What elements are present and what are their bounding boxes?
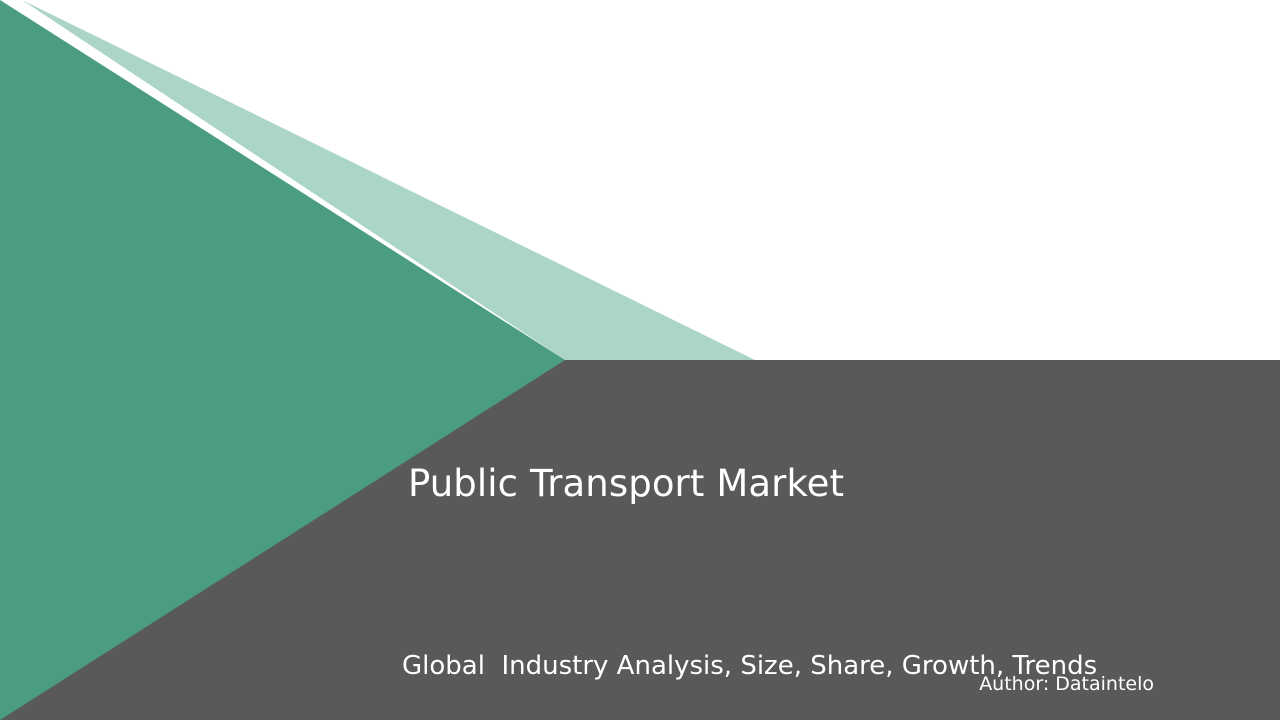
page-title: Public Transport Market — [408, 462, 844, 506]
content-layer: Public Transport Market Global Industry … — [0, 0, 1280, 720]
title-slide: Public Transport Market Global Industry … — [0, 0, 1280, 720]
author-credit: Author: Dataintelo — [640, 672, 1154, 696]
